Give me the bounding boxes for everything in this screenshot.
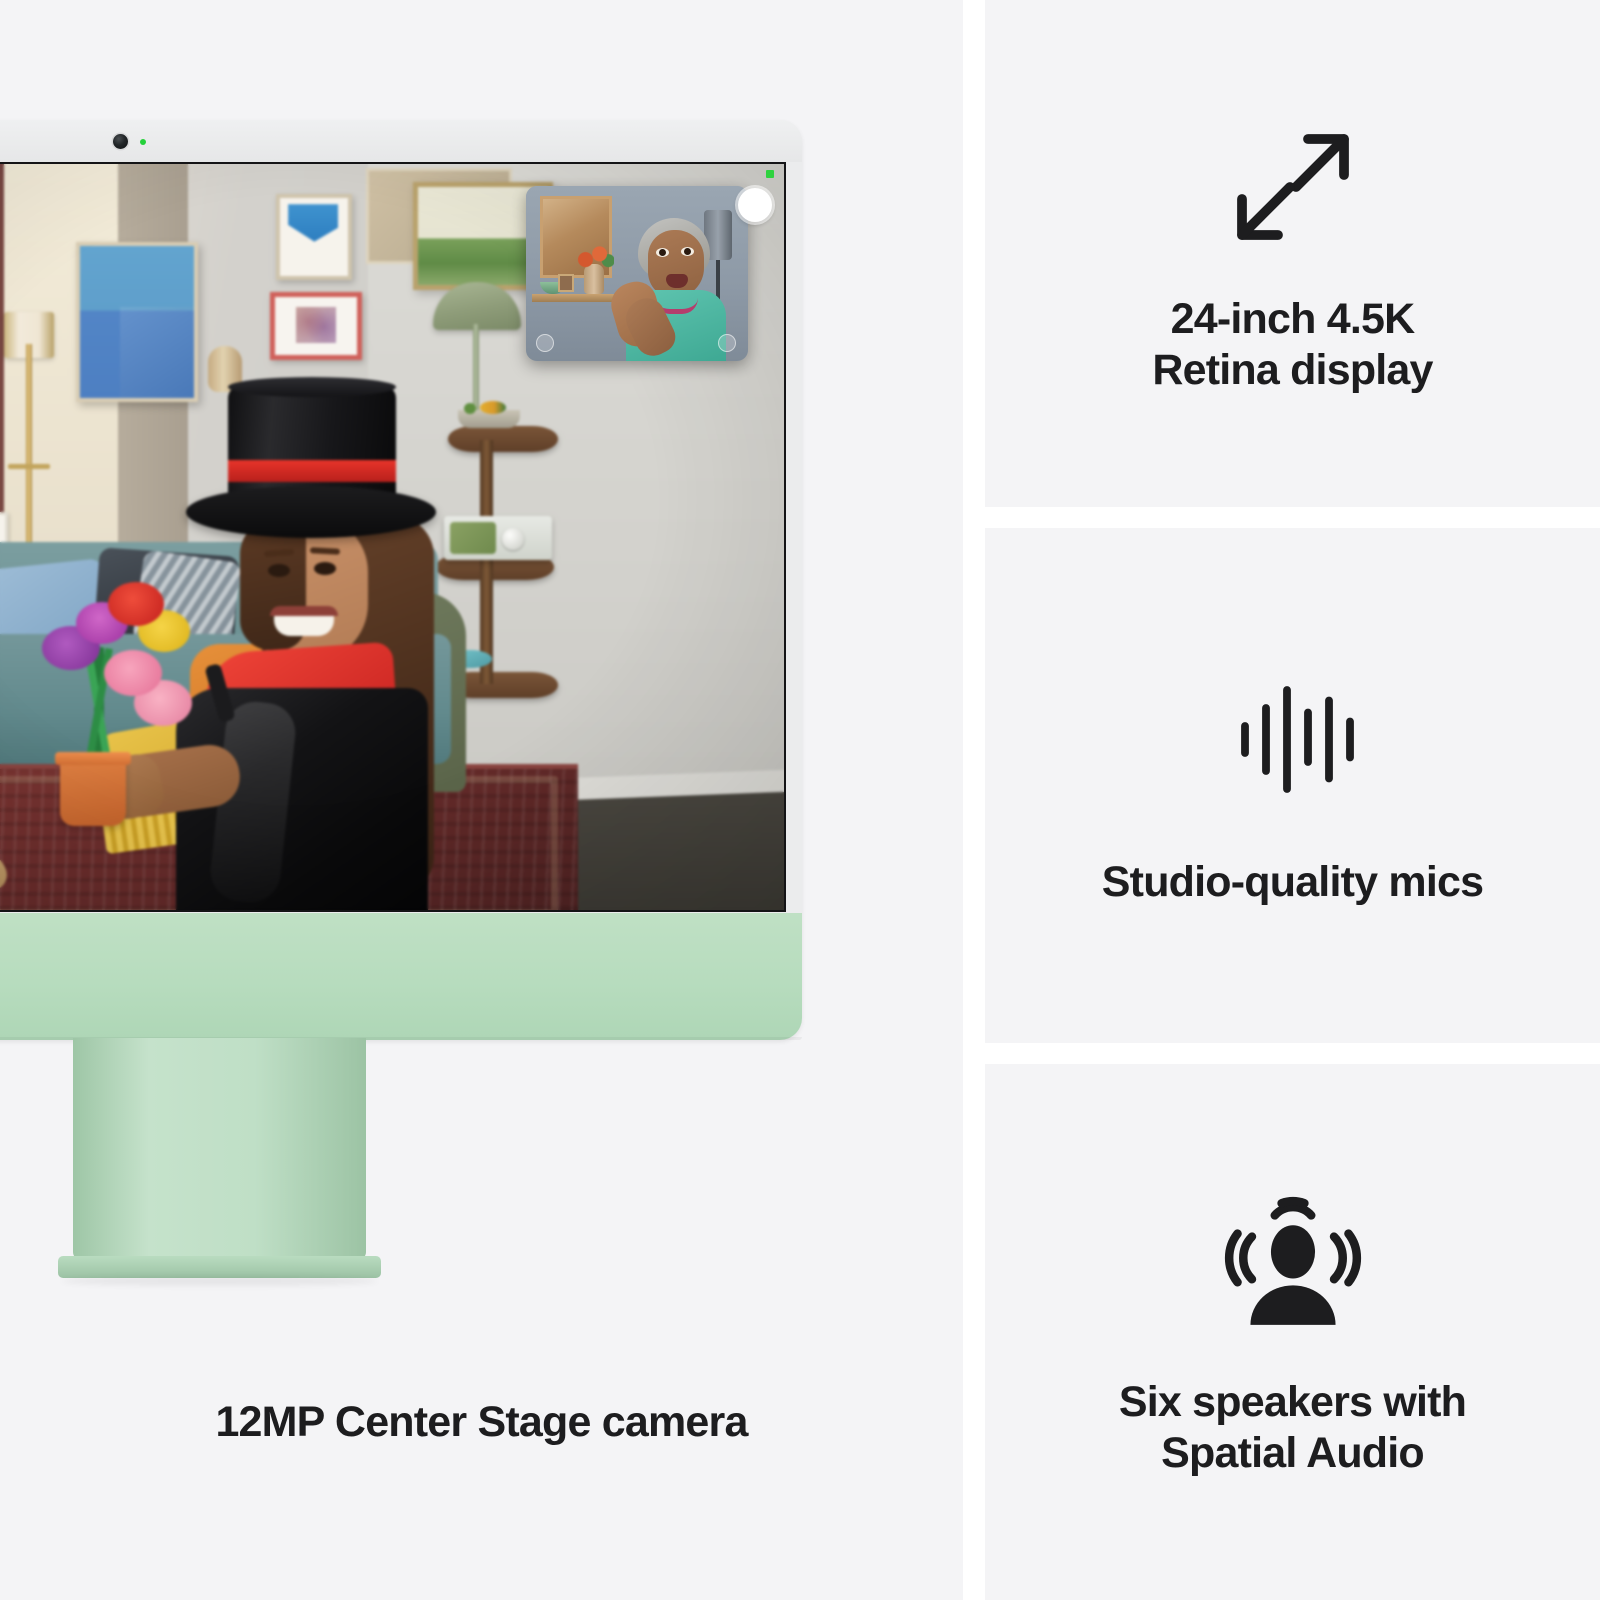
label-line-1: Studio-quality mics (1102, 857, 1483, 908)
imac-screen (0, 162, 786, 912)
label-line-1: Six speakers with (1119, 1377, 1466, 1428)
imac-chin (0, 913, 802, 1040)
pip-small-frame (558, 274, 574, 292)
hero-caption: 12MP Center Stage camera (0, 1398, 963, 1447)
imac-device (0, 120, 802, 1300)
feature-card-speakers-label: Six speakers with Spatial Audio (1119, 1377, 1466, 1478)
fruit-tray (458, 410, 520, 428)
label-line-2: Spatial Audio (1119, 1428, 1466, 1479)
facetime-pip-tile[interactable] (526, 186, 748, 361)
flower-pot (60, 756, 126, 826)
pip-person-mouth (666, 274, 688, 288)
page-root: 12MP Center Stage camera 24-inch 4.5K Re… (0, 0, 1600, 1600)
pip-reactions-button[interactable] (718, 334, 736, 352)
artwork-white-framed (276, 194, 352, 280)
girl-top-hat-red-band (228, 460, 396, 482)
pip-effects-button[interactable] (536, 334, 554, 352)
side-table-post (480, 440, 493, 684)
feature-card-display[interactable]: 24-inch 4.5K Retina display (985, 0, 1600, 507)
pip-person-eye (656, 248, 669, 257)
imac-display-housing (0, 120, 802, 1040)
screen-content (0, 164, 784, 910)
label-line-1: 24-inch 4.5K (1152, 294, 1432, 345)
camera-led-indicator-icon (140, 139, 146, 145)
imac-stand-base (58, 1256, 381, 1278)
artwork-red-framed (270, 292, 362, 360)
recording-led-icon (766, 170, 774, 178)
feature-card-mics[interactable]: Studio-quality mics (985, 528, 1600, 1043)
expand-arrows-icon (1218, 112, 1368, 262)
pip-flowers (576, 244, 614, 270)
imac-stand-shadow (62, 1276, 377, 1286)
capture-button[interactable] (738, 188, 772, 222)
floor-lamp-stand (26, 344, 32, 544)
flower-red (108, 582, 164, 626)
feature-card-speakers[interactable]: Six speakers with Spatial Audio (985, 1064, 1600, 1600)
feature-card-mics-label: Studio-quality mics (1102, 857, 1483, 908)
girl-smile (274, 612, 334, 636)
flower-pink (104, 650, 162, 696)
floor-lamp-ring (8, 464, 50, 469)
girl-top-hat-brim (186, 486, 436, 538)
girl-eye (314, 562, 336, 575)
feature-card-display-label: 24-inch 4.5K Retina display (1152, 294, 1432, 395)
audio-waveform-icon (1218, 663, 1368, 813)
product-hero-panel: 12MP Center Stage camera (0, 0, 963, 1600)
imac-stand-neck (73, 1038, 366, 1260)
spatial-audio-person-icon (1217, 1185, 1369, 1337)
label-line-2: Retina display (1152, 345, 1432, 396)
girl-eye (268, 564, 290, 577)
side-table-tier-top (448, 426, 558, 452)
artwork-blue-large (76, 242, 198, 402)
vintage-radio (444, 516, 552, 560)
front-camera-icon (113, 134, 128, 149)
feature-cards-column: 24-inch 4.5K Retina display Studio-quali… (963, 0, 1600, 1600)
pip-person-eye (681, 247, 694, 256)
